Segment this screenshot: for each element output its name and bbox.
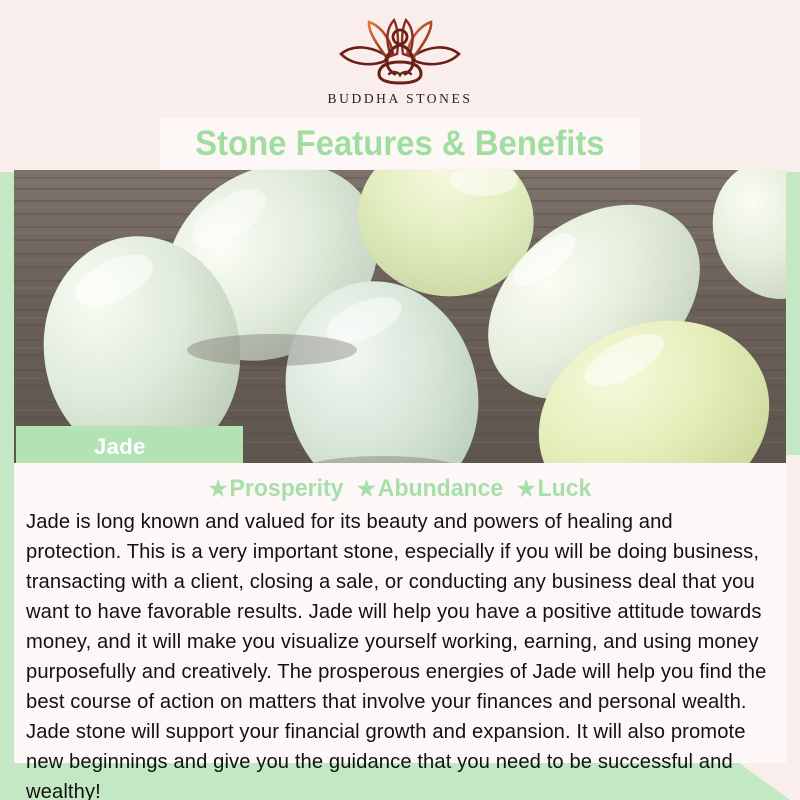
stone-photo bbox=[14, 170, 786, 463]
stone-info-poster: BUDDHA STONES Stone Features & Benefits bbox=[0, 0, 800, 800]
stone-description-panel: ★Prosperity★Abundance★Luck Jade is long … bbox=[14, 463, 786, 763]
stone-name-text: Jade bbox=[94, 434, 146, 460]
benefits-row: ★Prosperity★Abundance★Luck bbox=[29, 463, 770, 503]
star-icon: ★ bbox=[517, 476, 536, 501]
benefit-label-prosperity: Prosperity bbox=[230, 475, 344, 502]
page-title: Stone Features & Benefits bbox=[195, 124, 605, 164]
star-icon: ★ bbox=[209, 476, 228, 501]
lotus-meditation-logo-icon bbox=[0, 16, 800, 88]
brand-logo: BUDDHA STONES bbox=[0, 16, 800, 107]
benefit-label-abundance: Abundance bbox=[378, 475, 503, 502]
stone-name-label: Jade bbox=[16, 426, 243, 468]
title-banner: Stone Features & Benefits bbox=[160, 118, 640, 169]
brand-name: BUDDHA STONES bbox=[0, 91, 800, 107]
benefit-label-luck: Luck bbox=[538, 475, 592, 502]
star-icon: ★ bbox=[357, 476, 376, 501]
stone-description-text: Jade is long known and valued for its be… bbox=[26, 507, 767, 800]
